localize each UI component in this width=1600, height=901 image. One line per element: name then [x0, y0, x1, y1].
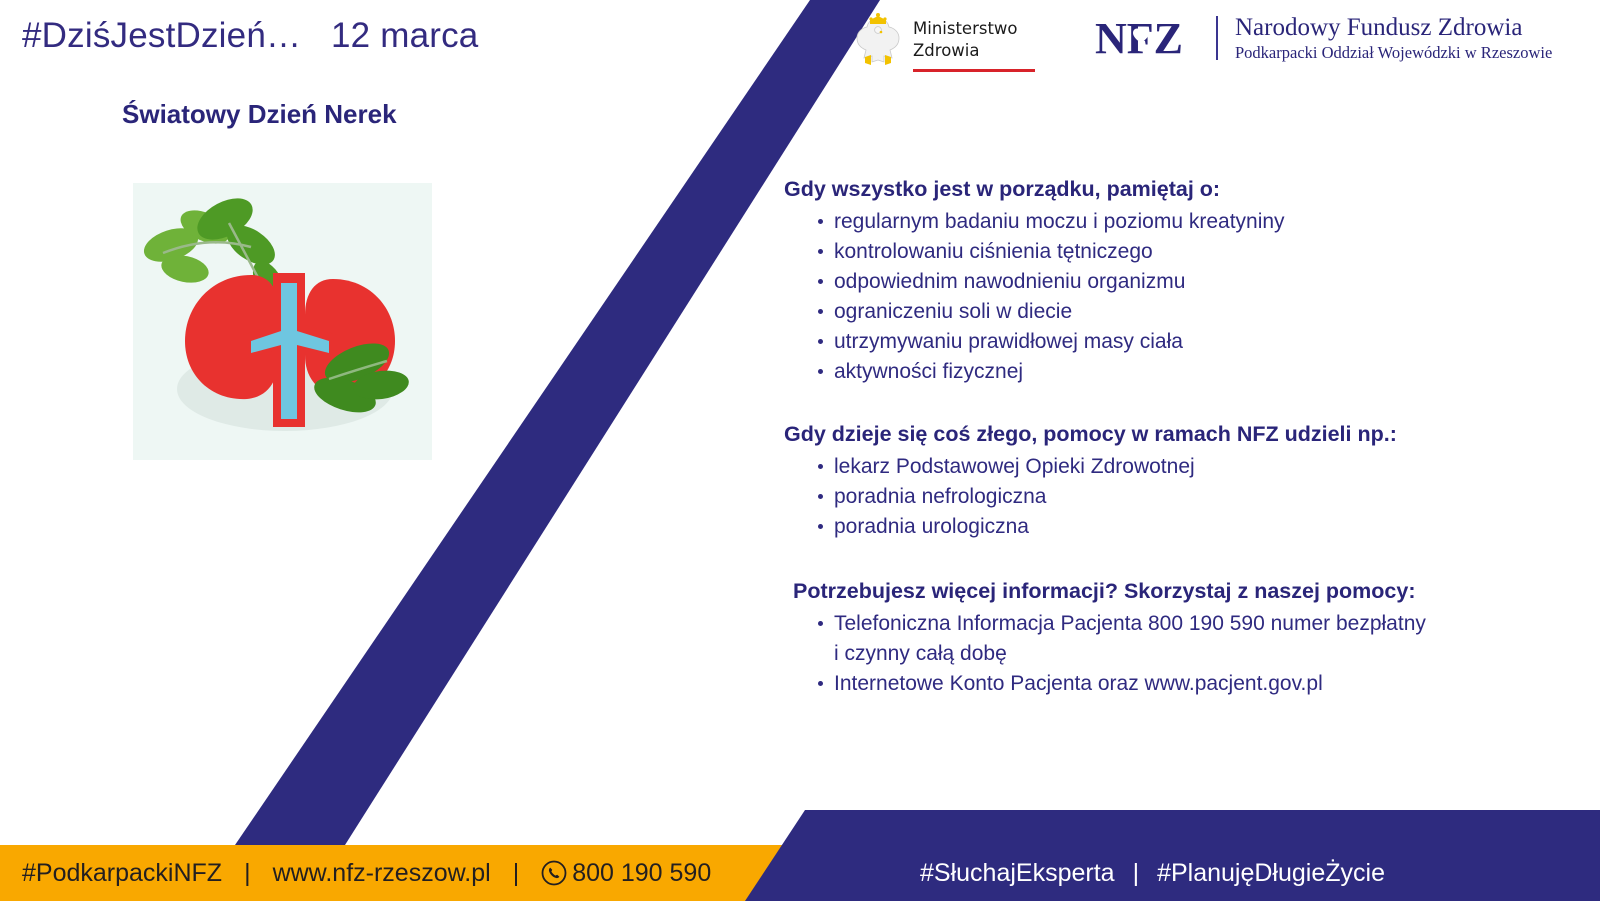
ministry-line-2: Zdrowia — [913, 40, 1035, 62]
bullet-list: regularnym badaniu moczu i poziomu kreat… — [784, 207, 1584, 387]
footer-phone[interactable]: 800 190 590 — [541, 859, 711, 888]
list-item: kontrolowaniu ciśnienia tętniczego — [814, 237, 1584, 267]
nfz-logo: NFZ Narodowy Fundusz Zdrowia Podkarpacki… — [1095, 10, 1552, 62]
list-item: aktywności fizycznej — [814, 357, 1584, 387]
nfz-name-sub: Podkarpacki Oddział Wojewódzki w Rzeszow… — [1235, 44, 1552, 62]
footer-hashtag-planujedlugiezycie[interactable]: #PlanujęDługieŻycie — [1157, 859, 1385, 888]
nfz-divider — [1216, 16, 1218, 60]
nfz-wordmark-icon: NFZ — [1095, 15, 1199, 61]
ministry-red-rule — [913, 69, 1035, 72]
footer-right-items: #SłuchajEksperta | #PlanujęDługieŻycie — [920, 845, 1385, 901]
list-item: lekarz Podstawowej Opieki Zdrowotnej — [814, 452, 1584, 482]
list-item: Telefoniczna Informacja Pacjenta 800 190… — [814, 609, 1584, 669]
bullet-list: Telefoniczna Informacja Pacjenta 800 190… — [784, 609, 1584, 699]
bullet-list: lekarz Podstawowej Opieki Zdrowotnej por… — [784, 452, 1584, 542]
poster-canvas: #DziśJestDzień… 12 marca Światowy Dzień … — [0, 0, 1600, 901]
page-title: #DziśJestDzień… 12 marca — [22, 16, 478, 56]
footer-website-link[interactable]: www.nfz-rzeszow.pl — [273, 859, 491, 888]
list-item: poradnia urologiczna — [814, 512, 1584, 542]
block-heading: Gdy wszystko jest w porządku, pamiętaj o… — [784, 176, 1584, 203]
list-item: Internetowe Konto Pacjenta oraz www.pacj… — [814, 669, 1584, 699]
polish-eagle-emblem-icon — [852, 10, 904, 72]
footer-hashtag-podkarpackinfz[interactable]: #PodkarpackiNFZ — [22, 859, 222, 888]
logo-row: Ministerstwo Zdrowia NFZ Narodowy Fundus… — [852, 10, 1552, 72]
ministry-of-health-logo: Ministerstwo Zdrowia — [852, 10, 1035, 72]
footer-separator: | — [491, 859, 542, 888]
footer-separator: | — [1115, 859, 1158, 888]
footer-separator: | — [222, 859, 273, 888]
content-block-2: Gdy dzieje się coś złego, pomocy w ramac… — [784, 421, 1584, 542]
phone-circle-icon — [541, 860, 567, 886]
block-heading: Potrzebujesz więcej informacji? Skorzyst… — [793, 578, 1584, 605]
content-block-1: Gdy wszystko jest w porządku, pamiętaj o… — [784, 176, 1584, 387]
list-item: odpowiednim nawodnieniu organizmu — [814, 267, 1584, 297]
content-block-3: Potrzebujesz więcej informacji? Skorzyst… — [784, 578, 1584, 699]
block-heading: Gdy dzieje się coś złego, pomocy w ramac… — [784, 421, 1584, 448]
list-item: poradnia nefrologiczna — [814, 482, 1584, 512]
ministry-line-1: Ministerstwo — [913, 18, 1035, 40]
footer-left-items: #PodkarpackiNFZ | www.nfz-rzeszow.pl | 8… — [22, 845, 711, 901]
kidney-illustration — [133, 183, 432, 460]
main-content: Gdy wszystko jest w porządku, pamiętaj o… — [784, 176, 1584, 699]
page-subtitle: Światowy Dzień Nerek — [122, 99, 397, 130]
list-item: ograniczeniu soli w diecie — [814, 297, 1584, 327]
footer-phone-number[interactable]: 800 190 590 — [572, 859, 711, 888]
list-item: regularnym badaniu moczu i poziomu kreat… — [814, 207, 1584, 237]
footer-hashtag-sluchajeksperta[interactable]: #SłuchajEksperta — [920, 859, 1115, 888]
nfz-name-main: Narodowy Fundusz Zdrowia — [1235, 14, 1552, 42]
nfz-name-block: Narodowy Fundusz Zdrowia Podkarpacki Odd… — [1235, 14, 1552, 62]
ministry-text-block: Ministerstwo Zdrowia — [913, 10, 1035, 72]
list-item: utrzymywaniu prawidłowej masy ciała — [814, 327, 1584, 357]
